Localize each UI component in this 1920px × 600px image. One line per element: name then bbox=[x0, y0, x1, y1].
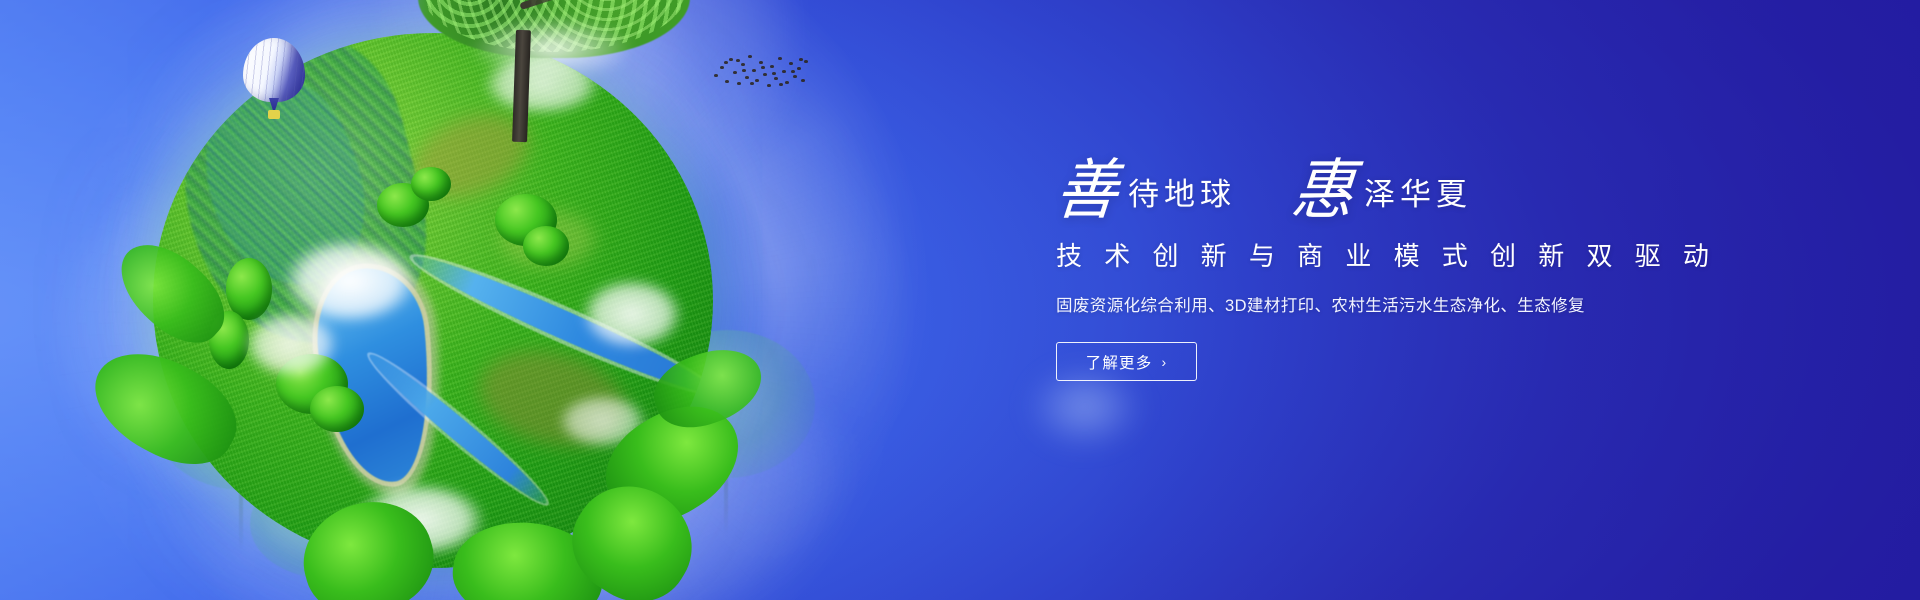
bird-icon bbox=[745, 76, 749, 79]
bird-icon bbox=[791, 70, 795, 73]
bird-icon bbox=[742, 69, 746, 72]
bird-flock-icon bbox=[712, 52, 807, 92]
bird-icon bbox=[782, 70, 786, 73]
learn-more-button[interactable]: 了解更多 › bbox=[1056, 342, 1197, 381]
bird-icon bbox=[789, 62, 793, 65]
bird-icon bbox=[770, 65, 774, 68]
bird-icon bbox=[774, 77, 778, 80]
bird-icon bbox=[720, 66, 724, 69]
bird-icon bbox=[793, 75, 797, 78]
hero-description: 固废资源化综合利用、3D建材打印、农村生活污水生态净化、生态修复 bbox=[1056, 292, 1756, 316]
tree-mist bbox=[452, 10, 652, 88]
bird-icon bbox=[750, 82, 754, 85]
tree-trunk bbox=[512, 30, 531, 142]
bird-icon bbox=[755, 79, 759, 82]
bird-icon bbox=[778, 57, 782, 60]
bird-icon bbox=[767, 84, 771, 87]
bird-icon bbox=[801, 79, 805, 82]
bird-icon bbox=[779, 83, 783, 86]
hero-banner: 善 待地球 惠 泽华夏 技 术 创 新 与 商 业 模 式 创 新 双 驱 动 … bbox=[0, 0, 1920, 600]
bird-icon bbox=[736, 59, 740, 62]
bird-icon bbox=[797, 67, 801, 70]
bird-icon bbox=[724, 61, 728, 64]
headline-text-zehuaxia: 泽华夏 bbox=[1364, 180, 1472, 218]
hot-air-balloon-icon bbox=[243, 38, 305, 122]
bird-icon bbox=[785, 81, 789, 84]
chevron-right-icon: › bbox=[1161, 354, 1167, 370]
hero-tree bbox=[392, 0, 692, 142]
bird-icon bbox=[741, 63, 745, 66]
page-title: 善 待地球 惠 泽华夏 bbox=[1056, 136, 1756, 218]
bird-icon bbox=[725, 80, 729, 83]
bird-icon bbox=[772, 72, 776, 75]
bird-icon bbox=[761, 66, 765, 69]
hero-subtitle: 技 术 创 新 与 商 业 模 式 创 新 双 驱 动 bbox=[1056, 236, 1756, 273]
hero-content: 善 待地球 惠 泽华夏 技 术 创 新 与 商 业 模 式 创 新 双 驱 动 … bbox=[1056, 136, 1756, 381]
headline-char-hui: 惠 bbox=[1289, 159, 1356, 219]
bird-icon bbox=[804, 60, 808, 63]
headline-char-shan: 善 bbox=[1053, 159, 1120, 219]
headline-text-daidiqiu: 待地球 bbox=[1128, 180, 1236, 218]
learn-more-label: 了解更多 bbox=[1086, 351, 1153, 373]
bird-icon bbox=[799, 58, 803, 61]
bird-icon bbox=[733, 71, 737, 74]
bird-icon bbox=[737, 82, 741, 85]
bird-icon bbox=[748, 55, 752, 58]
bird-icon bbox=[729, 58, 733, 61]
bird-icon bbox=[759, 61, 763, 64]
bird-icon bbox=[714, 74, 718, 77]
bird-icon bbox=[763, 73, 767, 76]
bird-icon bbox=[752, 69, 756, 72]
